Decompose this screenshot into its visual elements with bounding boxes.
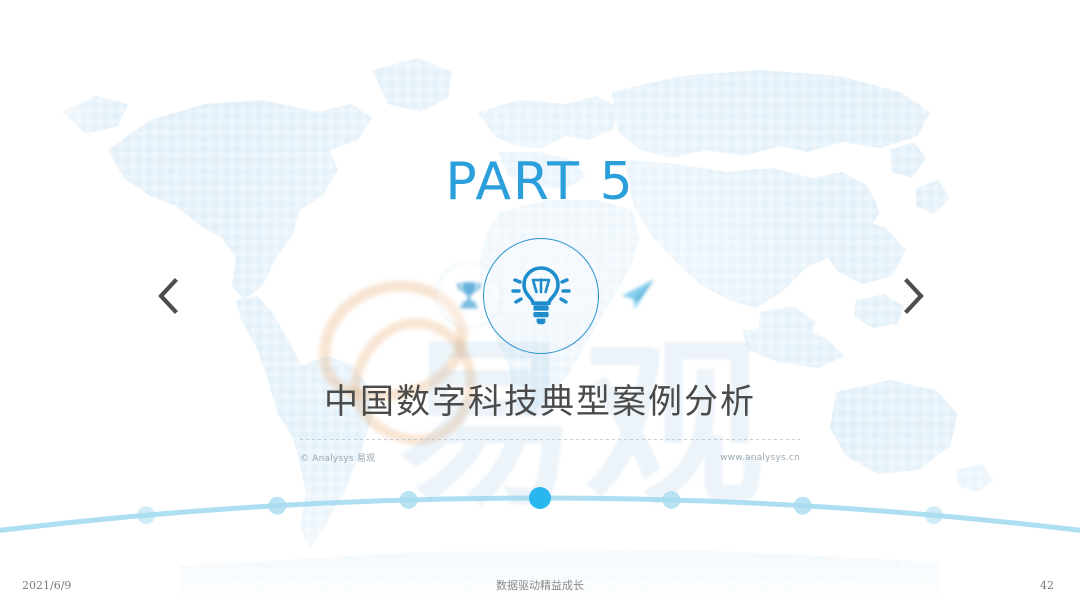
website-text: www.analysys.cn: [720, 453, 800, 463]
prev-slide-button[interactable]: [146, 270, 190, 322]
slide-footer: 2021/6/9 数据驱动精益成长 42: [0, 562, 1080, 608]
pagination-dot[interactable]: [794, 497, 812, 515]
pagination-dot-active[interactable]: [529, 487, 551, 509]
pagination-dot[interactable]: [268, 497, 286, 515]
pagination-dot[interactable]: [400, 491, 418, 509]
divider: [300, 439, 800, 440]
part-label: PART 5: [0, 152, 1080, 212]
pagination-svg: [0, 462, 1080, 542]
chevron-left-icon: [155, 276, 181, 316]
next-slide-button[interactable]: [892, 270, 936, 322]
pagination-dot[interactable]: [662, 491, 680, 509]
slide-root: 易观 PART 5: [0, 0, 1080, 608]
footer-page-number: 42: [1040, 579, 1054, 592]
pagination-arc[interactable]: [0, 462, 1080, 542]
lightbulb-icon: [483, 238, 599, 354]
chevron-right-icon: [901, 276, 927, 316]
pagination-dot[interactable]: [925, 506, 943, 524]
pagination-dot[interactable]: [137, 506, 155, 524]
paper-plane-icon: [606, 262, 670, 326]
page-title: 中国数字科技典型案例分析: [0, 374, 1080, 423]
footer-tagline: 数据驱动精益成长: [0, 577, 1080, 593]
